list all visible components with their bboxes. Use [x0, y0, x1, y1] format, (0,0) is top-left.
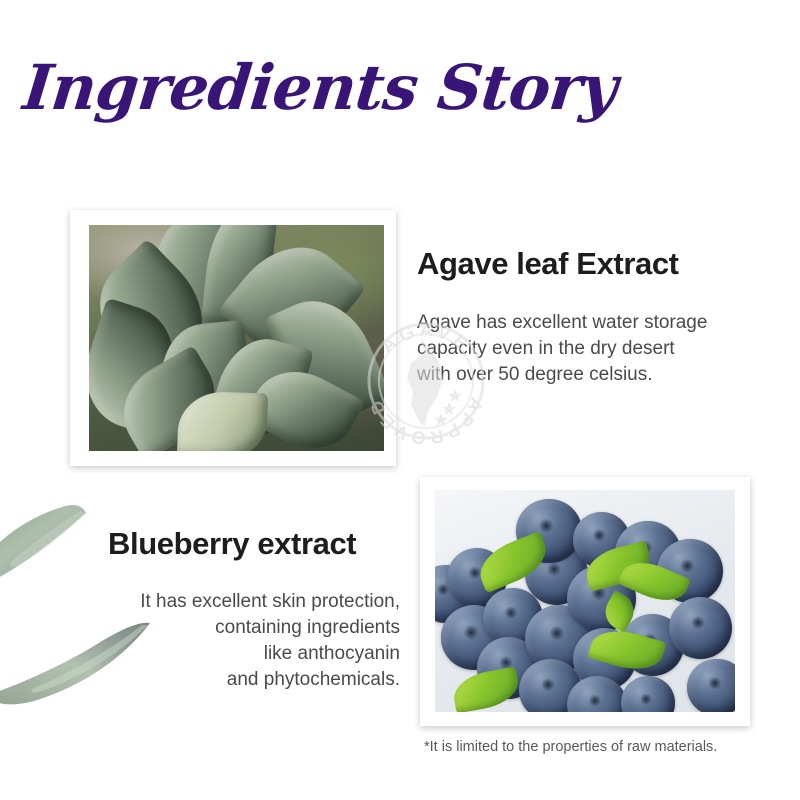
agave-body-line: Agave has excellent water storage	[417, 310, 747, 336]
agave-body-line: with over 50 degree celsius.	[417, 362, 747, 388]
blueberry-heading: Blueberry extract	[108, 527, 356, 562]
ingredients-story-page: Ingredients Story Agave leaf Extract Aga…	[0, 0, 800, 800]
agave-body: Agave has excellent water storage capaci…	[417, 310, 747, 388]
blueberry-body-line: like anthocyanin	[90, 641, 400, 667]
blueberry-photo-image	[435, 490, 735, 712]
blueberry-photo-frame	[420, 477, 750, 726]
blueberry-body-line: and phytochemicals.	[90, 667, 400, 693]
watermark-stars	[434, 389, 462, 426]
blueberry-body: It has excellent skin protection, contai…	[90, 589, 400, 693]
footnote: *It is limited to the properties of raw …	[424, 738, 717, 757]
blueberry-body-line: containing ingredients	[90, 615, 400, 641]
blueberry-body-line: It has excellent skin protection,	[90, 589, 400, 615]
agave-heading: Agave leaf Extract	[417, 247, 679, 282]
agave-photo-frame	[70, 210, 396, 466]
agave-photo	[89, 225, 384, 451]
deco-leaf-upper	[0, 505, 86, 582]
blueberry-photo	[435, 490, 735, 712]
page-title: Ingredients Story	[0, 52, 644, 123]
agave-body-line: capacity even in the dry desert	[417, 336, 747, 362]
agave-photo-image	[89, 225, 384, 451]
